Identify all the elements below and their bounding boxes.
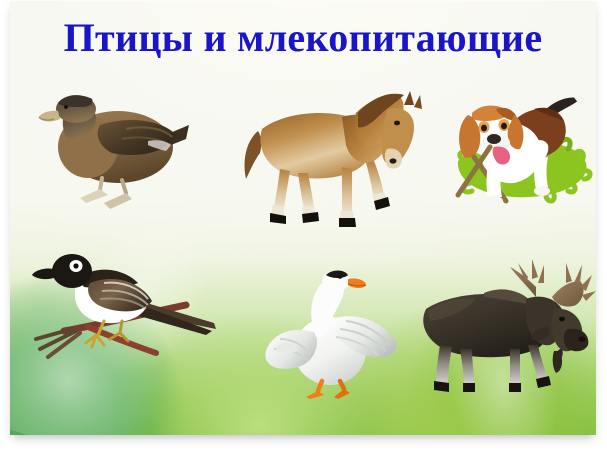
animal-image-magpie bbox=[28, 239, 228, 364]
animal-image-horse bbox=[238, 83, 418, 228]
animal-image-dog bbox=[434, 91, 596, 209]
animal-image-goose bbox=[260, 263, 410, 399]
animal-image-moose bbox=[410, 253, 590, 393]
presentation-slide: Птицы и млекопитающие bbox=[10, 1, 596, 435]
slide-frame: Птицы и млекопитающие bbox=[0, 0, 607, 456]
page-title: Птицы и млекопитающие bbox=[10, 15, 596, 61]
animal-image-duck bbox=[30, 85, 190, 220]
